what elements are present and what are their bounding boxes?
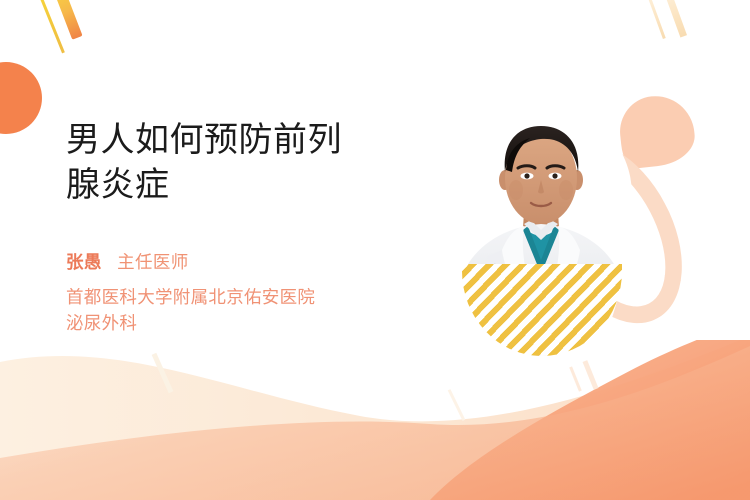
bottom-center-stripe-decoration	[152, 353, 174, 393]
doctor-department: 泌尿外科	[66, 310, 411, 336]
text-content: 男人如何预防前列 腺炎症 张愚 主任医师 首都医科大学附属北京佑安医院 泌尿外科	[66, 118, 411, 337]
top-right-stripe-decoration-1	[643, 0, 666, 39]
striped-wedge-decoration	[462, 264, 622, 356]
doctor-name: 张愚	[66, 252, 102, 272]
doctor-intro-card: 男人如何预防前列 腺炎症 张愚 主任医师 首都医科大学附属北京佑安医院 泌尿外科	[0, 0, 750, 500]
doctor-affiliation: 首都医科大学附属北京佑安医院 泌尿外科	[66, 284, 411, 337]
doctor-byline: 张愚 主任医师	[66, 250, 411, 275]
top-left-thick-stripe-decoration	[49, 0, 82, 40]
portrait-group	[450, 104, 632, 356]
orange-circle-decoration	[0, 62, 42, 134]
doctor-hospital: 首都医科大学附属北京佑安医院	[66, 284, 411, 310]
wave-stripe-decoration-2	[583, 360, 599, 390]
top-right-stripe-decoration-2	[659, 0, 687, 37]
doctor-title: 主任医师	[117, 252, 189, 272]
bottom-right-stripe-decoration	[448, 389, 466, 421]
top-left-thin-stripe-decoration	[35, 0, 65, 53]
bottom-wave-decoration	[0, 340, 750, 500]
page-title: 男人如何预防前列 腺炎症	[66, 118, 411, 208]
wave-stripe-decoration-1	[569, 366, 582, 391]
